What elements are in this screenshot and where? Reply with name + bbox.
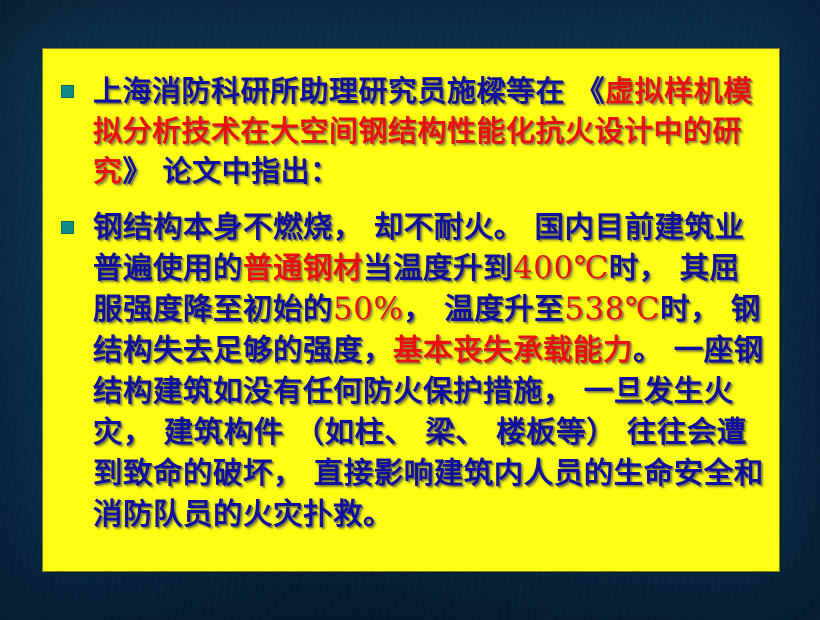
- bullet-item-1: 上海消防科研所助理研究员施樑等在 《虚拟样机模拟分析技术在大空间钢结构性能化抗火…: [53, 71, 765, 191]
- bullet-item-2: 钢结构本身不燃烧， 却不耐火。 国内目前建筑业普遍使用的普通钢材当温度升到400…: [53, 207, 765, 535]
- square-bullet-icon: [61, 85, 74, 98]
- bullet-1-text: 上海消防科研所助理研究员施樑等在 《虚拟样机模拟分析技术在大空间钢结构性能化抗火…: [93, 71, 765, 191]
- presentation-slide: 上海消防科研所助理研究员施樑等在 《虚拟样机模拟分析技术在大空间钢结构性能化抗火…: [0, 0, 820, 620]
- bullet-2-run-loss-of-capacity: 基本丧失承载能力: [393, 333, 633, 367]
- bullet-2-run-temp-538: 538℃: [564, 291, 660, 327]
- bullet-2-run-temp-400: 400℃: [513, 250, 609, 286]
- yellow-content-panel: 上海消防科研所助理研究员施樑等在 《虚拟样机模拟分析技术在大空间钢结构性能化抗火…: [42, 48, 780, 572]
- bullet-2-run-2: 当温度升到: [363, 251, 513, 285]
- bullet-2-text: 钢结构本身不燃烧， 却不耐火。 国内目前建筑业普遍使用的普通钢材当温度升到400…: [93, 207, 765, 535]
- bullet-2-run-4: ， 温度升至: [403, 292, 564, 326]
- bullet-2-run-percent-50: 50%: [333, 291, 403, 327]
- bullet-1-run-intro: 上海消防科研所助理研究员施樑等在 《: [93, 74, 605, 108]
- bullet-2-run-ordinary-steel: 普通钢材: [243, 251, 363, 285]
- bullet-1-run-outro: 》 论文中指出：: [123, 154, 340, 188]
- square-bullet-icon: [61, 221, 74, 234]
